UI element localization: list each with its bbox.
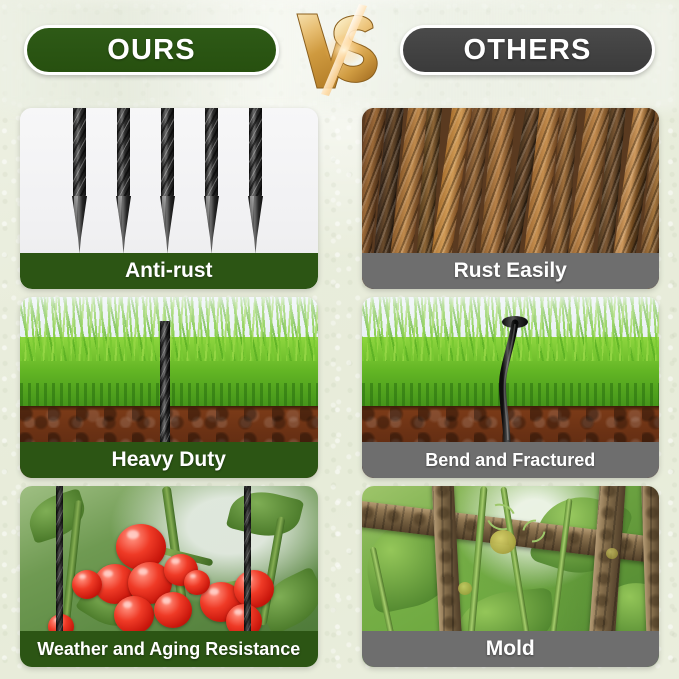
- vs-logo: [287, 2, 392, 98]
- caption-text: Mold: [486, 637, 535, 661]
- caption-text: Anti-rust: [125, 259, 213, 283]
- panel-ours-anti-rust: Anti-rust: [20, 108, 318, 289]
- panel-ours-heavy-duty: Heavy Duty: [20, 297, 318, 478]
- panel-others-bend-fractured: Bend and Fractured: [362, 297, 660, 478]
- caption-text: Rust Easily: [454, 259, 567, 283]
- caption-text: Bend and Fractured: [425, 450, 595, 471]
- panel-others-mold: Mold: [362, 486, 660, 667]
- caption-rust-easily: Rust Easily: [362, 253, 660, 289]
- caption-bend-and-fractured: Bend and Fractured: [362, 442, 660, 478]
- bent-stake: [490, 313, 530, 443]
- caption-heavy-duty: Heavy Duty: [20, 442, 318, 478]
- caption-anti-rust: Anti-rust: [20, 253, 318, 289]
- panel-others-rust-easily: Rust Easily: [362, 108, 660, 289]
- comparison-header: OURS: [0, 0, 679, 100]
- caption-text: Weather and Aging Resistance: [37, 639, 300, 660]
- ours-badge-label: OURS: [107, 34, 196, 67]
- others-badge-label: OTHERS: [463, 34, 591, 67]
- caption-weather-aging-resistance: Weather and Aging Resistance: [20, 631, 318, 667]
- ours-badge: OURS: [24, 25, 279, 75]
- caption-mold: Mold: [362, 631, 660, 667]
- caption-text: Heavy Duty: [112, 448, 226, 472]
- others-badge: OTHERS: [400, 25, 655, 75]
- panel-ours-weather-aging: Weather and Aging Resistance: [20, 486, 318, 667]
- comparison-grid: Anti-rust Rust Easily: [0, 100, 679, 679]
